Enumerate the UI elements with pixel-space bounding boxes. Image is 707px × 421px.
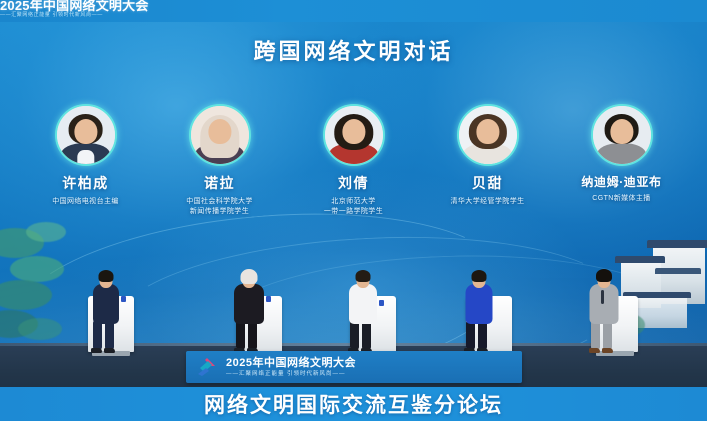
avatar: [457, 104, 519, 166]
avatar: [55, 104, 117, 166]
panelist-name: 贝甜: [429, 173, 547, 193]
forum-title: 网络文明国际交流互鉴分论坛: [204, 389, 503, 419]
panelist-org: 中国网络电视台主编: [27, 197, 145, 207]
avatar: [323, 104, 385, 166]
conference-logo-title: 2025年中国网络文明大会: [0, 0, 149, 12]
panelist-org: 中国社会科学院大学 新闻传播学院学生: [161, 197, 279, 217]
conference-stage-photo: 2025年中国网络文明大会 ——汇聚网络正能量 引领时代新风尚—— 跨国网络文明…: [0, 0, 707, 421]
panelist-org: 清华大学经管学院学生: [429, 197, 547, 207]
microphone-icon: [601, 290, 604, 304]
panelist-name: 诺拉: [161, 173, 279, 193]
conference-logo-subtitle: ——汇聚网络正能量 引领时代新风尚——: [0, 13, 149, 18]
avatar: [189, 104, 251, 166]
conference-emblem-icon: [196, 357, 220, 377]
conference-logo: 2025年中国网络文明大会 ——汇聚网络正能量 引领时代新风尚——: [0, 0, 149, 18]
podium-banner: 2025年中国网络文明大会 ——汇聚网络正能量 引领时代新风尚——: [186, 351, 522, 383]
podium-subtitle: ——汇聚网络正能量 引领时代新风尚——: [226, 371, 356, 377]
podium-title: 2025年中国网络文明大会: [226, 357, 356, 370]
panelist-org: 北京师范大学 一带一路学院学生: [295, 197, 413, 217]
top-logo-bar: 2025年中国网络文明大会 ——汇聚网络正能量 引领时代新风尚——: [0, 0, 707, 22]
panelist-card: 诺拉 中国社会科学院大学 新闻传播学院学生: [161, 104, 279, 217]
page-title: 跨国网络文明对话: [0, 34, 707, 66]
seated-panel: [0, 222, 707, 352]
panelist-name: 许柏成: [27, 173, 145, 193]
avatar: [591, 104, 653, 166]
panelist-card: 许柏成 中国网络电视台主编: [27, 104, 145, 207]
panelist-name: 纳迪姆·迪亚布: [563, 173, 681, 190]
panelist-card: 刘倩 北京师范大学 一带一路学院学生: [295, 104, 413, 217]
panelist-card: 纳迪姆·迪亚布 CGTN新媒体主播: [563, 104, 681, 204]
panelist-org: CGTN新媒体主播: [563, 194, 681, 204]
panelist-name: 刘倩: [295, 173, 413, 193]
panelist-list: 许柏成 中国网络电视台主编 诺拉 中国社会科学院大学 新闻传播学院学生: [0, 104, 707, 217]
bottom-caption-bar: 网络文明国际交流互鉴分论坛: [0, 387, 707, 421]
panelist-card: 贝甜 清华大学经管学院学生: [429, 104, 547, 207]
